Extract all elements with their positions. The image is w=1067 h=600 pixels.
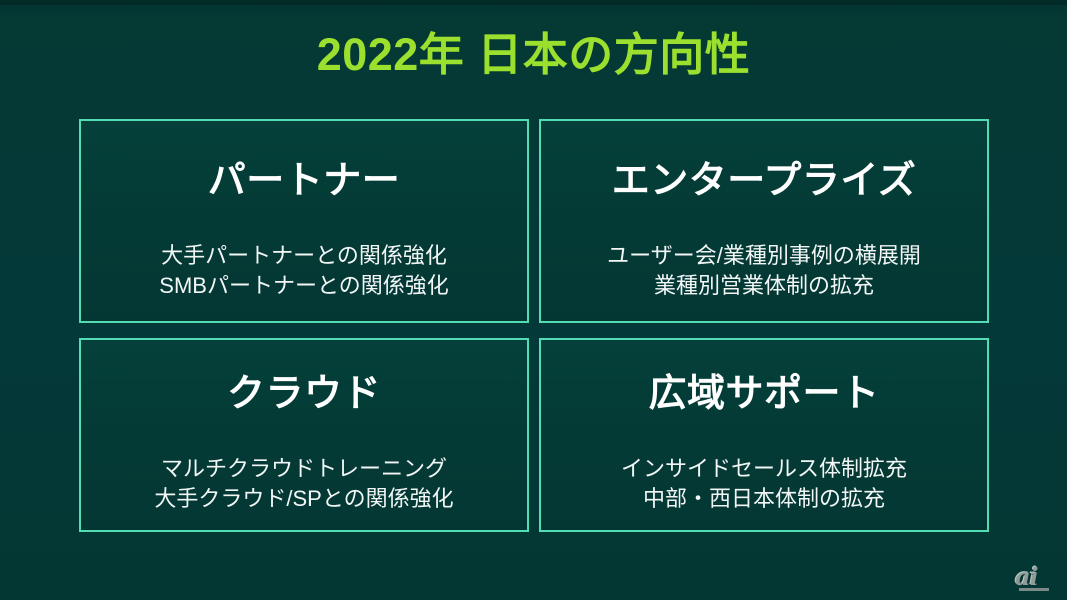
- card-partner-heading: パートナー: [208, 159, 401, 203]
- card-cloud-body: マルチクラウドトレーニング 大手クラウド/SPとの関係強化: [154, 454, 453, 514]
- top-edge-band: [0, 0, 1067, 5]
- card-wide-area-support-line-2: 中部・西日本体制の拡充: [621, 484, 907, 514]
- watermark-logo-icon: ai: [1015, 564, 1059, 594]
- card-wide-area-support[interactable]: 広域サポート インサイドセールス体制拡充 中部・西日本体制の拡充: [539, 338, 989, 532]
- watermark-label: ai: [1015, 564, 1059, 590]
- card-partner-body: 大手パートナーとの関係強化 SMBパートナーとの関係強化: [159, 241, 448, 301]
- card-enterprise-heading: エンタープライズ: [612, 159, 917, 203]
- card-partner[interactable]: パートナー 大手パートナーとの関係強化 SMBパートナーとの関係強化: [79, 119, 529, 323]
- card-cloud-line-1: マルチクラウドトレーニング: [154, 454, 453, 484]
- card-enterprise[interactable]: エンタープライズ ユーザー会/業種別事例の横展開 業種別営業体制の拡充: [539, 119, 989, 323]
- card-enterprise-body: ユーザー会/業種別事例の横展開 業種別営業体制の拡充: [607, 241, 921, 301]
- card-partner-line-2: SMBパートナーとの関係強化: [159, 271, 448, 301]
- card-enterprise-line-1: ユーザー会/業種別事例の横展開: [607, 241, 921, 271]
- card-partner-line-1: 大手パートナーとの関係強化: [159, 241, 448, 271]
- card-wide-area-support-heading: 広域サポート: [648, 372, 879, 416]
- page-title: 2022年 日本の方向性: [0, 26, 1067, 84]
- card-wide-area-support-line-1: インサイドセールス体制拡充: [621, 454, 907, 484]
- card-cloud-line-2: 大手クラウド/SPとの関係強化: [154, 484, 453, 514]
- slide-canvas: 2022年 日本の方向性 パートナー 大手パートナーとの関係強化 SMBパートナ…: [0, 0, 1067, 600]
- card-cloud[interactable]: クラウド マルチクラウドトレーニング 大手クラウド/SPとの関係強化: [79, 338, 529, 532]
- card-cloud-heading: クラウド: [227, 372, 381, 416]
- card-enterprise-line-2: 業種別営業体制の拡充: [607, 271, 921, 301]
- card-grid: パートナー 大手パートナーとの関係強化 SMBパートナーとの関係強化 エンタープ…: [79, 119, 989, 532]
- card-wide-area-support-body: インサイドセールス体制拡充 中部・西日本体制の拡充: [621, 454, 907, 514]
